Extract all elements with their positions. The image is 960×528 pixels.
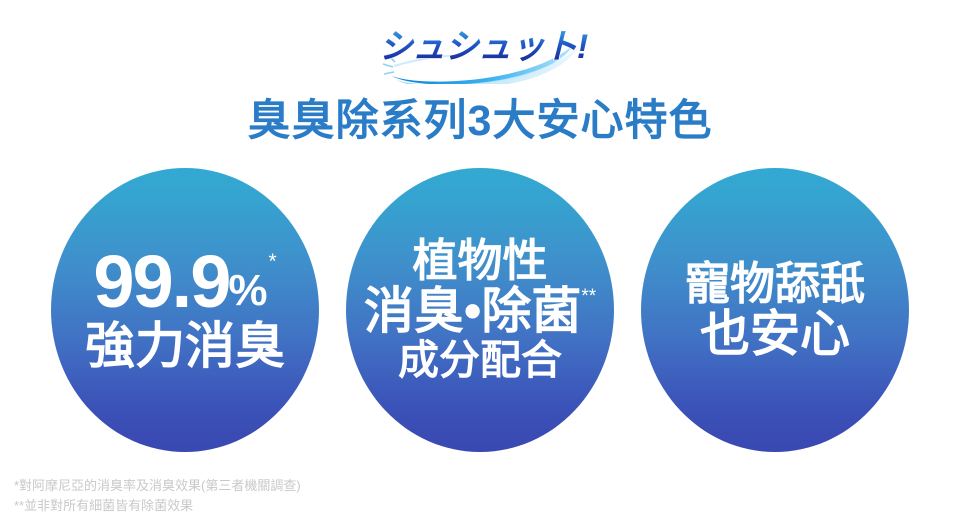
plant-based-line-3: 成分配合 [398, 338, 562, 384]
footnote-2: **並非對所有細菌皆有除菌效果 [14, 496, 301, 516]
brand-logo: シュシュット! [378, 4, 588, 84]
plant-based-line-2-row: 消臭•除菌 ** [364, 285, 596, 338]
deodorize-caption: 強力消臭 [85, 320, 285, 373]
footnote-1: *對阿摩尼亞的消臭率及消臭效果(第三者機關調查) [14, 476, 301, 496]
feature-circle-plant-based: 植物性 消臭•除菌 ** 成分配合 [346, 168, 614, 452]
feature-circle-pet-safe: 寵物舔舐 也安心 [641, 168, 909, 452]
footnotes: *對阿摩尼亞的消臭率及消臭效果(第三者機關調查) **並非對所有細菌皆有除菌效果 [14, 476, 301, 516]
deodorize-percentage: 99.9 % * [93, 247, 276, 317]
feature-circle-deodorize: 99.9 % * 強力消臭 [51, 168, 319, 452]
plant-based-footnote-marker: ** [581, 287, 596, 306]
deodorize-footnote-marker: * [268, 251, 276, 272]
promo-banner: シュシュット! 臭臭除系列3大安心特色 99.9 % * 強力消臭 植物性 消臭… [0, 0, 960, 528]
deodorize-number: 99.9 [93, 247, 229, 317]
plant-based-line-1: 植物性 [412, 236, 547, 286]
page-title: 臭臭除系列3大安心特色 [0, 96, 960, 147]
deodorize-percent-sign: % [228, 270, 267, 318]
pet-safe-line-2: 也安心 [700, 308, 850, 361]
plant-based-line-2: 消臭•除菌 [364, 285, 582, 338]
feature-circle-group: 99.9 % * 強力消臭 植物性 消臭•除菌 ** 成分配合 寵物舔舐 也安心 [0, 168, 960, 452]
brand-logo-text: シュシュット! [379, 28, 588, 66]
pet-safe-line-1: 寵物舔舐 [685, 259, 865, 309]
